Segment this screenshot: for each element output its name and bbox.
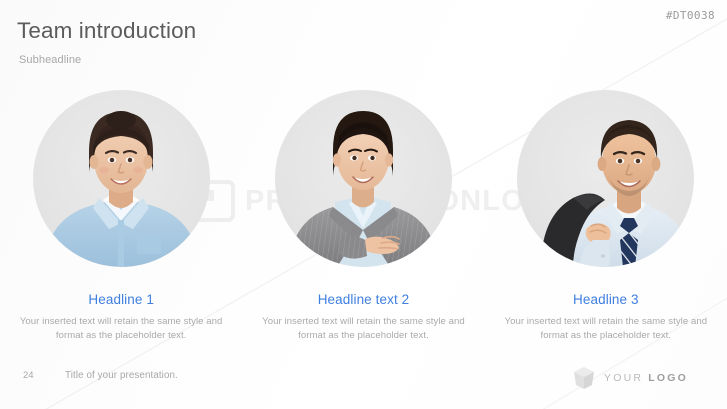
- person-illustration-1: [33, 90, 210, 267]
- member-headline-3: Headline 3: [573, 292, 639, 307]
- member-headline-1: Headline 1: [88, 292, 154, 307]
- member-body-1: Your inserted text will retain the same …: [8, 315, 234, 343]
- team-member-list: Headline 1 Your inserted text will retai…: [0, 90, 727, 343]
- logo-text: YOUR LOGO: [604, 372, 688, 384]
- slide: Team introduction Subheadline #DT0038 PR…: [0, 0, 727, 409]
- team-member-3[interactable]: Headline 3 Your inserted text will retai…: [485, 90, 727, 343]
- member-photo-3[interactable]: [517, 90, 694, 267]
- member-headline-2: Headline text 2: [318, 292, 410, 307]
- person-illustration-2: [275, 90, 452, 267]
- person-illustration-3: [517, 90, 694, 267]
- logo-word-your: YOUR: [604, 372, 643, 384]
- document-id: #DT0038: [666, 9, 715, 22]
- member-body-3: Your inserted text will retain the same …: [493, 315, 719, 343]
- page-number: 24: [23, 370, 34, 381]
- footer-title: Title of your presentation.: [65, 370, 178, 381]
- member-photo-1[interactable]: [33, 90, 210, 267]
- logo[interactable]: YOUR LOGO: [573, 366, 688, 390]
- page-title: Team introduction: [17, 18, 196, 44]
- team-member-1[interactable]: Headline 1 Your inserted text will retai…: [0, 90, 242, 343]
- member-body-2: Your inserted text will retain the same …: [250, 315, 476, 343]
- page-subtitle: Subheadline: [19, 54, 81, 66]
- team-member-2[interactable]: Headline text 2 Your inserted text will …: [242, 90, 484, 343]
- logo-word-logo: LOGO: [648, 372, 688, 384]
- member-photo-2[interactable]: [275, 90, 452, 267]
- cube-icon: [573, 366, 595, 390]
